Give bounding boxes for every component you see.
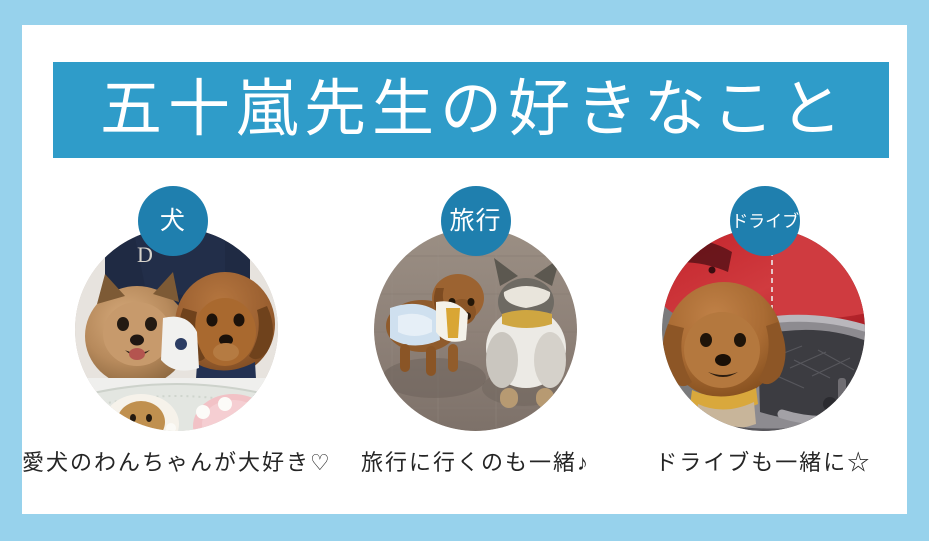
title-banner: 五十嵐先生の好きなこと (53, 62, 889, 158)
svg-text:happy birthday: happy birthday (211, 426, 266, 431)
photo-travel (374, 228, 577, 431)
badge-drive-label: ドライブ (731, 213, 799, 230)
photo-wrap-drive: ドライブ (662, 228, 865, 431)
photo-wrap-travel: 旅行 (374, 228, 577, 431)
caption-drive: ドライブも一緒に☆ (655, 450, 871, 476)
slide-root: 五十嵐先生の好きなこと (0, 0, 929, 541)
badge-travel-label: 旅行 (450, 209, 502, 234)
badge-travel: 旅行 (441, 186, 511, 256)
photo-drive (662, 228, 865, 431)
column-dog: D (22, 180, 332, 480)
caption-dog: 愛犬のわんちゃんが大好き♡ (22, 450, 332, 476)
badge-dog-label: 犬 (160, 209, 186, 234)
column-travel: 旅行 旅行に行くのも一緒♪ (332, 180, 620, 480)
caption-travel: 旅行に行くのも一緒♪ (361, 450, 590, 476)
photo-wrap-dog: D (75, 228, 278, 431)
column-drive: ドライブ ドライブも一緒に☆ (619, 180, 907, 480)
content-columns: D (22, 180, 907, 480)
badge-drive: ドライブ (730, 186, 800, 256)
badge-dog: 犬 (138, 186, 208, 256)
photo-dog: D (75, 228, 278, 431)
page-title: 五十嵐先生の好きなこと (94, 79, 848, 141)
